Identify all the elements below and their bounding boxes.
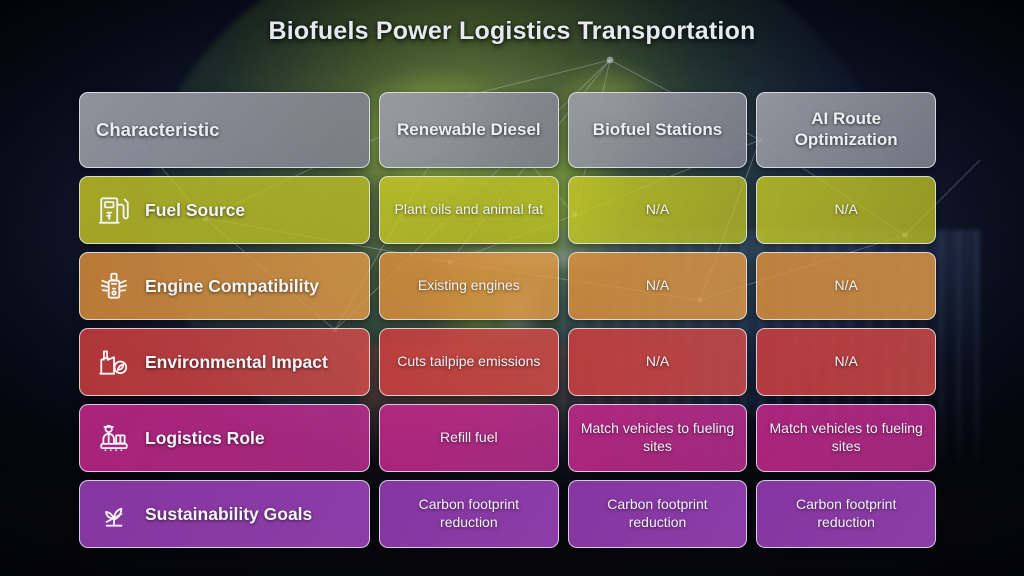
cell-value: Carbon footprint reduction — [390, 496, 548, 532]
cell-value: N/A — [646, 277, 669, 295]
row-label-text: Sustainability Goals — [145, 504, 312, 525]
header-biofuel-stations: Biofuel Stations — [568, 92, 748, 168]
cell-value: Carbon footprint reduction — [767, 496, 925, 532]
header-characteristic-label: Characteristic — [96, 119, 219, 141]
row-label-sustainability-goals[interactable]: Sustainability Goals — [79, 480, 370, 548]
cell-fuel-source-biofuel-stations[interactable]: N/A — [568, 176, 748, 244]
cell-sustainability-goals-renewable-diesel[interactable]: Carbon footprint reduction — [379, 480, 559, 548]
cell-sustainability-goals-biofuel-stations[interactable]: Carbon footprint reduction — [568, 480, 748, 548]
cell-value: N/A — [646, 353, 669, 371]
cell-engine-compatibility-ai-route-optimization[interactable]: N/A — [756, 252, 936, 320]
table-row: Sustainability Goals Carbon footprint re… — [79, 480, 936, 548]
cell-logistics-role-biofuel-stations[interactable]: Match vehicles to fueling sites — [568, 404, 748, 472]
header-ai-route-optimization-label: AI Route Optimization — [767, 109, 925, 150]
comparison-table: Characteristic Renewable Diesel Biofuel … — [79, 92, 936, 548]
header-renewable-diesel-label: Renewable Diesel — [397, 120, 541, 141]
cell-value: N/A — [835, 201, 858, 219]
row-label-engine-compatibility[interactable]: Engine Compatibility — [79, 252, 370, 320]
row-label-text: Environmental Impact — [145, 352, 328, 373]
header-biofuel-stations-label: Biofuel Stations — [593, 120, 722, 141]
table-row: Fuel Source Plant oils and animal fat N/… — [79, 176, 936, 244]
table-row: Engine Compatibility Existing engines N/… — [79, 252, 936, 320]
cell-value: Match vehicles to fueling sites — [767, 420, 925, 456]
engine-icon — [96, 268, 132, 304]
header-ai-route-optimization: AI Route Optimization — [756, 92, 936, 168]
cell-fuel-source-ai-route-optimization[interactable]: N/A — [756, 176, 936, 244]
cell-environmental-impact-biofuel-stations[interactable]: N/A — [568, 328, 748, 396]
cell-engine-compatibility-renewable-diesel[interactable]: Existing engines — [379, 252, 559, 320]
page-title: Biofuels Power Logistics Transportation — [0, 17, 1024, 46]
cell-fuel-source-renewable-diesel[interactable]: Plant oils and animal fat — [379, 176, 559, 244]
cell-value: N/A — [646, 201, 669, 219]
cell-value: Carbon footprint reduction — [579, 496, 737, 532]
header-renewable-diesel: Renewable Diesel — [379, 92, 559, 168]
cell-environmental-impact-ai-route-optimization[interactable]: N/A — [756, 328, 936, 396]
cell-value: Cuts tailpipe emissions — [397, 353, 540, 371]
cell-value: Match vehicles to fueling sites — [579, 420, 737, 456]
worker-conveyor-icon — [96, 420, 132, 456]
cell-value: Plant oils and animal fat — [395, 201, 544, 219]
cell-engine-compatibility-biofuel-stations[interactable]: N/A — [568, 252, 748, 320]
table-row: Environmental Impact Cuts tailpipe emiss… — [79, 328, 936, 396]
header-characteristic: Characteristic — [79, 92, 370, 168]
cell-value: N/A — [835, 277, 858, 295]
table-header-row: Characteristic Renewable Diesel Biofuel … — [79, 92, 936, 168]
row-label-text: Logistics Role — [145, 428, 265, 449]
cell-value: N/A — [835, 353, 858, 371]
row-label-environmental-impact[interactable]: Environmental Impact — [79, 328, 370, 396]
cell-value: Refill fuel — [440, 429, 498, 447]
fuel-pump-icon — [96, 192, 132, 228]
cell-value: Existing engines — [418, 277, 520, 295]
sprout-icon — [96, 496, 132, 532]
row-label-text: Engine Compatibility — [145, 276, 319, 297]
slide-canvas: Biofuels Power Logistics Transportation … — [0, 0, 1024, 576]
factory-leaf-icon — [96, 344, 132, 380]
row-label-text: Fuel Source — [145, 200, 245, 221]
cell-sustainability-goals-ai-route-optimization[interactable]: Carbon footprint reduction — [756, 480, 936, 548]
cell-logistics-role-renewable-diesel[interactable]: Refill fuel — [379, 404, 559, 472]
cell-environmental-impact-renewable-diesel[interactable]: Cuts tailpipe emissions — [379, 328, 559, 396]
row-label-logistics-role[interactable]: Logistics Role — [79, 404, 370, 472]
table-row: Logistics Role Refill fuel Match vehicle… — [79, 404, 936, 472]
row-label-fuel-source[interactable]: Fuel Source — [79, 176, 370, 244]
cell-logistics-role-ai-route-optimization[interactable]: Match vehicles to fueling sites — [756, 404, 936, 472]
